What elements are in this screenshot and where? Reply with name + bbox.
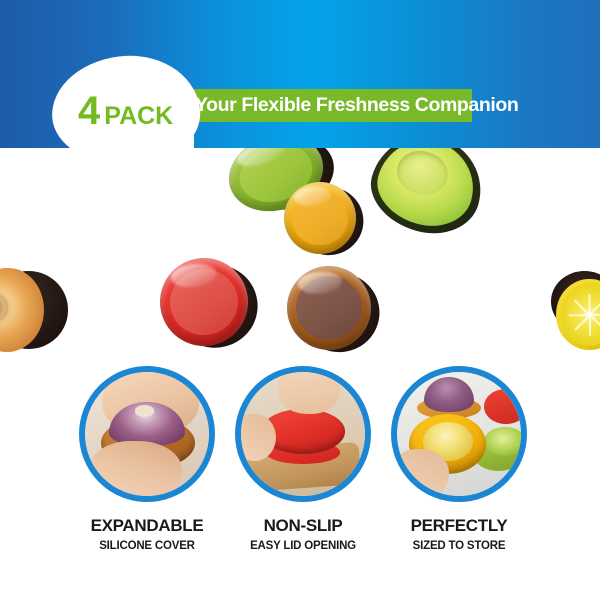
- feature-photo-expandable: [79, 366, 215, 502]
- lemon-slice-image: [556, 274, 600, 352]
- pack-badge-content: 4 PACK: [78, 91, 173, 131]
- pack-count-word: PACK: [105, 104, 174, 129]
- lemon-segment-line: [575, 314, 591, 330]
- feature-non-slip: NON-SLIP EASY LID OPENING: [230, 366, 376, 553]
- feature-photo-perfectly-sized: [391, 366, 527, 502]
- red-lid-image: [155, 253, 253, 351]
- hand-bottom: [90, 441, 182, 496]
- onion-rings: [0, 293, 8, 322]
- hero-product-area: [0, 148, 600, 363]
- feature-title: NON-SLIP: [230, 517, 376, 534]
- lemon-segment-line: [590, 314, 600, 330]
- yellow-lid-image: [280, 178, 359, 257]
- feature-expandable: EXPANDABLE SILICONE COVER: [74, 366, 220, 553]
- feature-subtitle: SIZED TO STORE: [386, 541, 532, 553]
- product-poster: Your Flexible Freshness Companion 4 PACK: [0, 0, 600, 600]
- avocado-fridge: [484, 427, 521, 457]
- brown-lid-image: [283, 262, 374, 353]
- tagline-text: Your Flexible Freshness Companion: [195, 90, 485, 121]
- onion-core: [135, 405, 155, 416]
- feature-highlights: EXPANDABLE SILICONE COVER NON-SLIP EASY …: [0, 366, 600, 566]
- perfectly-sized-photo: [397, 372, 521, 496]
- onion-image: [0, 268, 56, 352]
- feature-perfectly-sized: PERFECTLY SIZED TO STORE: [386, 366, 532, 553]
- hand-holding: [397, 449, 449, 496]
- expandable-photo: [85, 372, 209, 496]
- feature-subtitle: SILICONE COVER: [74, 541, 220, 553]
- hand-top: [278, 372, 340, 414]
- pack-count-number: 4: [78, 91, 99, 131]
- non-slip-photo: [241, 372, 365, 496]
- feature-subtitle: EASY LID OPENING: [230, 541, 376, 553]
- lemon-segment-line: [590, 299, 600, 315]
- feature-title: EXPANDABLE: [74, 517, 220, 534]
- red-lid-fridge: [484, 389, 521, 424]
- feature-title: PERFECTLY: [386, 517, 532, 534]
- feature-photo-non-slip: [235, 366, 371, 502]
- avocado-image: [361, 148, 493, 245]
